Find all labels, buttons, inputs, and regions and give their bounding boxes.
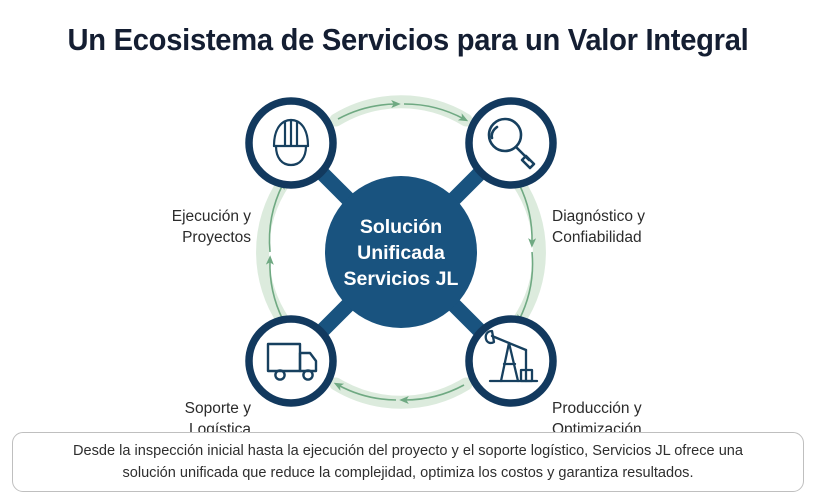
node-produccion[interactable] xyxy=(469,319,553,403)
page-title: Un Ecosistema de Servicios para un Valor… xyxy=(24,22,791,58)
center-label-line3: Servicios JL xyxy=(344,268,459,290)
node-label-ejecucion: Ejecución y Proyectos xyxy=(61,206,251,249)
node-label-diagnostico: Diagnóstico y Confiabilidad xyxy=(552,206,782,249)
cycle-diagram: Solución Unificada Servicios JL xyxy=(0,78,816,426)
center-label-line2: Unificada xyxy=(357,242,445,264)
node-soporte[interactable] xyxy=(249,319,333,403)
center-label-line1: Solución xyxy=(360,216,442,238)
caption-box: Desde la inspección inicial hasta la eje… xyxy=(12,432,804,492)
node-diagnostico[interactable] xyxy=(469,101,553,185)
center-node: Solución Unificada Servicios JL xyxy=(325,176,477,328)
node-ejecucion[interactable] xyxy=(249,101,333,185)
cycle-diagram-graphic: Solución Unificada Servicios JL xyxy=(196,78,606,426)
caption-text: Desde la inspección inicial hasta la eje… xyxy=(46,440,770,485)
